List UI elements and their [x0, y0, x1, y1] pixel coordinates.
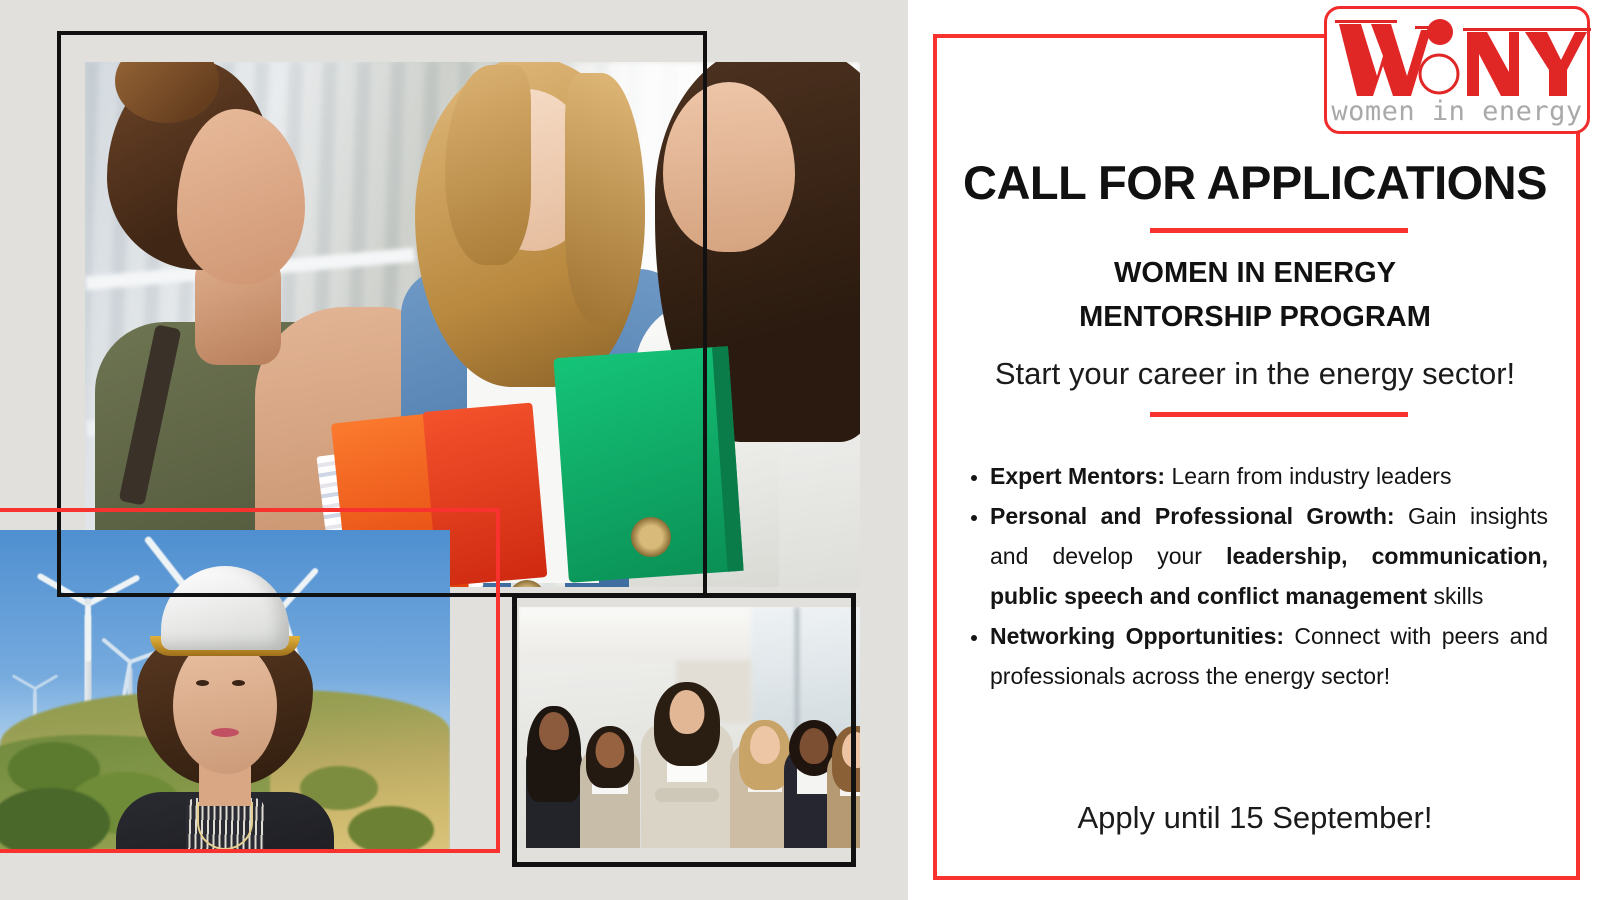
divider-bottom — [1150, 412, 1408, 417]
list-item: Expert Mentors: Learn from industry lead… — [990, 456, 1548, 496]
benefits-list: Expert Mentors: Learn from industry lead… — [948, 456, 1548, 696]
bullet-text: Learn from industry leaders — [1165, 463, 1451, 489]
frame-red-windfarm — [0, 508, 500, 853]
photo-collage-panel — [0, 0, 908, 900]
program-subtitle-line1: WOMEN IN ENERGY — [1114, 257, 1396, 289]
deadline-text: Apply until 15 September! — [930, 800, 1580, 836]
bullet-lead: Personal and Professional Growth: — [990, 503, 1395, 529]
page-title: CALL FOR APPLICATIONS — [930, 155, 1580, 210]
list-item: Personal and Professional Growth: Gain i… — [990, 496, 1548, 616]
tagline: Start your career in the energy sector! — [930, 356, 1580, 392]
bullet-lead: Networking Opportunities: — [990, 623, 1284, 649]
poster-canvas: women in energy CALL FOR APPLICATIONS WO… — [0, 0, 1600, 900]
bullet-lead: Expert Mentors: — [990, 463, 1165, 489]
logo-tagline: women in energy — [1327, 98, 1587, 125]
bullet-text-tail: skills — [1427, 583, 1483, 609]
frame-black-group — [512, 593, 856, 867]
program-subtitle-line2: MENTORSHIP PROGRAM — [1079, 301, 1431, 333]
list-item: Networking Opportunities: Connect with p… — [990, 616, 1548, 696]
divider-top — [1150, 228, 1408, 233]
logo-wordmark — [1327, 10, 1587, 98]
program-subtitle: WOMEN IN ENERGY MENTORSHIP PROGRAM — [940, 252, 1570, 339]
wony-logo: women in energy — [1324, 6, 1590, 134]
content-panel — [908, 0, 1600, 900]
